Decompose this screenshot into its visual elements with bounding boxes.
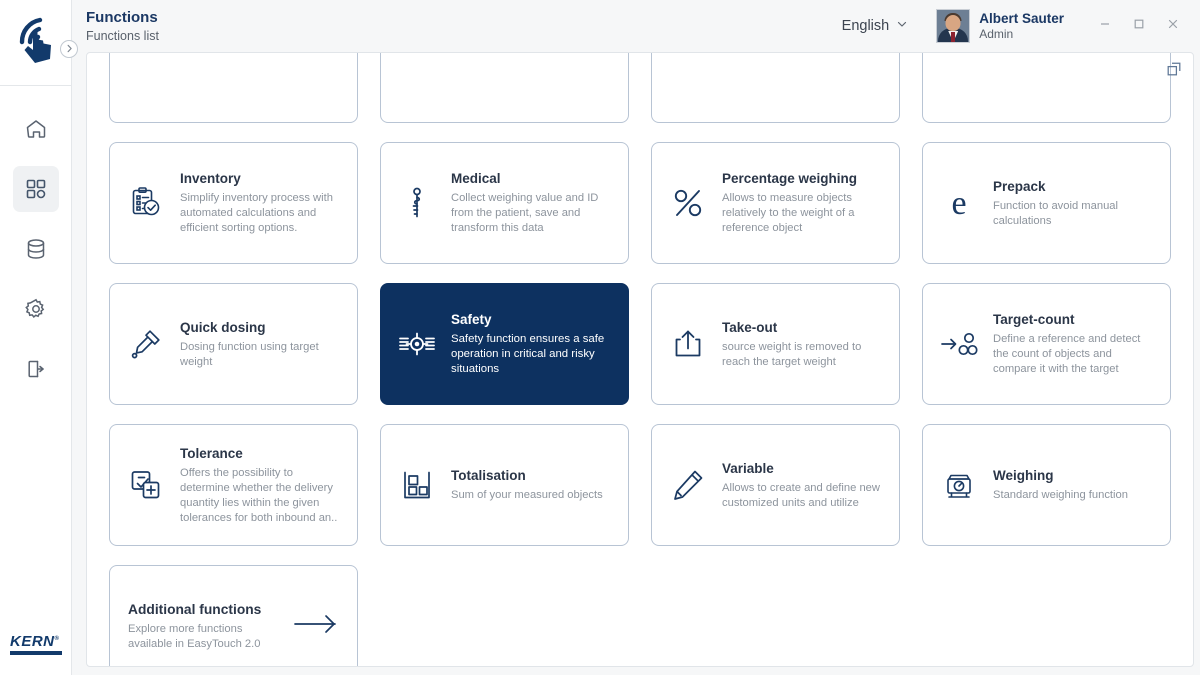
card-text: Take-out source weight is removed to rea…	[722, 319, 883, 370]
card-text: Totalisation Sum of your measured object…	[451, 467, 612, 503]
main-region: Functions Functions list English	[72, 0, 1200, 675]
sidebar-item-settings[interactable]	[13, 286, 59, 332]
scale-icon	[939, 468, 979, 502]
function-card-prepack[interactable]: e Prepack Function to avoid manual calcu…	[922, 142, 1171, 264]
top-bar-right: English	[836, 0, 1200, 52]
kern-underline	[10, 651, 62, 655]
e-letter-icon: e	[939, 185, 979, 221]
card-peek[interactable]	[922, 53, 1171, 123]
card-title: Safety	[451, 311, 612, 329]
card-peek[interactable]	[651, 53, 900, 123]
top-bar: Functions Functions list English	[72, 0, 1200, 52]
card-description: Define a reference and detect the count …	[993, 332, 1154, 377]
function-card-take-out[interactable]: Take-out source weight is removed to rea…	[651, 283, 900, 405]
card-description: Function to avoid manual calculations	[993, 199, 1154, 229]
card-text: Variable Allows to create and define new…	[722, 460, 883, 511]
card-text: Percentage weighing Allows to measure ob…	[722, 170, 883, 236]
card-description: Simplify inventory process with automate…	[180, 191, 341, 236]
card-text: Inventory Simplify inventory process wit…	[180, 170, 341, 236]
card-description: Explore more functions available in Easy…	[128, 622, 271, 652]
upload-tray-icon	[668, 327, 708, 361]
maximize-icon	[1132, 17, 1146, 36]
card-title: Medical	[451, 170, 612, 188]
function-card-percentage-weighing[interactable]: Percentage weighing Allows to measure ob…	[651, 142, 900, 264]
card-description: source weight is removed to reach the ta…	[722, 340, 883, 370]
svg-text:e: e	[951, 185, 966, 221]
minimize-icon	[1098, 17, 1112, 36]
card-description: Allows to create and define new customiz…	[722, 481, 883, 511]
chevron-down-icon	[896, 18, 908, 34]
card-peek[interactable]	[380, 53, 629, 123]
language-label: English	[842, 18, 890, 34]
card-peek[interactable]	[109, 53, 358, 123]
card-description: Safety function ensures a safe operation…	[451, 332, 612, 377]
card-title: Totalisation	[451, 467, 612, 485]
maximize-button[interactable]	[1122, 9, 1156, 43]
content-panel-wrapper: Inventory Simplify inventory process wit…	[72, 52, 1200, 675]
card-title: Additional functions	[128, 601, 271, 619]
crosshair-target-icon	[397, 329, 437, 359]
arrow-right-icon[interactable]	[293, 611, 339, 642]
function-card-weighing[interactable]: Weighing Standard weighing function	[922, 424, 1171, 546]
function-card-additional-functions[interactable]: Additional functions Explore more functi…	[109, 565, 358, 666]
card-description: Dosing function using target weight	[180, 340, 341, 370]
function-card-quick-dosing[interactable]: Quick dosing Dosing function using targe…	[109, 283, 358, 405]
close-button[interactable]	[1156, 9, 1190, 43]
function-card-medical[interactable]: Medical Collect weighing value and ID fr…	[380, 142, 629, 264]
arrow-dots-icon	[939, 329, 979, 359]
boxes-sum-icon	[397, 468, 437, 502]
asclepius-icon	[397, 186, 437, 220]
functions-panel: Inventory Simplify inventory process wit…	[86, 52, 1194, 667]
function-card-inventory[interactable]: Inventory Simplify inventory process wit…	[109, 142, 358, 264]
card-text: Target-count Define a reference and dete…	[993, 311, 1154, 377]
sidebar-item-functions[interactable]	[13, 166, 59, 212]
tolerance-plus-minus-icon	[126, 468, 166, 502]
card-text: Prepack Function to avoid manual calcula…	[993, 178, 1154, 229]
card-title: Target-count	[993, 311, 1154, 329]
function-card-totalisation[interactable]: Totalisation Sum of your measured object…	[380, 424, 629, 546]
kern-registered-mark: ®	[55, 636, 60, 642]
kern-brand-logo: KERN®	[10, 633, 62, 655]
card-title: Take-out	[722, 319, 883, 337]
card-title: Percentage weighing	[722, 170, 883, 188]
page-subtitle: Functions list	[86, 28, 159, 44]
window-controls	[1088, 9, 1200, 43]
gear-icon	[24, 297, 48, 321]
avatar	[936, 9, 970, 43]
functions-grid: Inventory Simplify inventory process wit…	[109, 53, 1171, 666]
card-title: Tolerance	[180, 445, 341, 463]
logout-icon	[24, 357, 48, 381]
kern-wordmark: KERN	[10, 633, 55, 650]
grid-icon	[24, 177, 48, 201]
chevron-right-icon	[65, 40, 74, 58]
database-icon	[24, 237, 48, 261]
language-selector[interactable]: English	[836, 18, 915, 34]
pencil-icon	[668, 468, 708, 502]
card-title: Quick dosing	[180, 319, 341, 337]
page-title: Functions	[86, 9, 159, 26]
card-title: Variable	[722, 460, 883, 478]
card-text: Quick dosing Dosing function using targe…	[180, 319, 341, 370]
card-title: Inventory	[180, 170, 341, 188]
card-description: Standard weighing function	[993, 488, 1154, 503]
sidebar-nav	[0, 106, 71, 392]
percent-icon	[668, 185, 708, 221]
function-card-safety[interactable]: Safety Safety function ensures a safe op…	[380, 283, 629, 405]
card-text: Tolerance Offers the possibility to dete…	[180, 445, 341, 526]
user-info: Albert Sauter Admin	[979, 11, 1064, 42]
functions-scroll-area[interactable]: Inventory Simplify inventory process wit…	[87, 53, 1193, 666]
user-menu[interactable]: Albert Sauter Admin	[936, 9, 1064, 43]
expand-icon	[1167, 63, 1181, 80]
card-title: Prepack	[993, 178, 1154, 196]
clipboard-check-icon	[126, 186, 166, 220]
close-icon	[1166, 17, 1180, 36]
expand-panel-button[interactable]	[1167, 62, 1181, 81]
card-description: Sum of your measured objects	[451, 488, 612, 503]
card-title: Weighing	[993, 467, 1154, 485]
minimize-button[interactable]	[1088, 9, 1122, 43]
function-card-tolerance[interactable]: Tolerance Offers the possibility to dete…	[109, 424, 358, 546]
card-text: Additional functions Explore more functi…	[128, 601, 271, 652]
user-role: Admin	[979, 27, 1064, 42]
pipette-icon	[126, 327, 166, 361]
card-description: Offers the possibility to determine whet…	[180, 466, 341, 526]
application-window: KERN® Functions Functions list English	[0, 0, 1200, 675]
function-card-target-count[interactable]: Target-count Define a reference and dete…	[922, 283, 1171, 405]
card-text: Medical Collect weighing value and ID fr…	[451, 170, 612, 236]
card-text: Safety Safety function ensures a safe op…	[451, 311, 612, 377]
card-description: Allows to measure objects relatively to …	[722, 191, 883, 236]
sidebar-collapse-toggle[interactable]	[60, 40, 78, 58]
card-text: Weighing Standard weighing function	[993, 467, 1154, 503]
function-card-variable[interactable]: Variable Allows to create and define new…	[651, 424, 900, 546]
sidebar-item-logout[interactable]	[13, 346, 59, 392]
user-name: Albert Sauter	[979, 11, 1064, 27]
card-description: Collect weighing value and ID from the p…	[451, 191, 612, 236]
sidebar: KERN®	[0, 0, 72, 675]
page-heading: Functions Functions list	[86, 9, 159, 44]
sidebar-item-home[interactable]	[13, 106, 59, 152]
touch-hand-icon	[10, 14, 62, 71]
home-icon	[24, 117, 48, 141]
sidebar-item-database[interactable]	[13, 226, 59, 272]
